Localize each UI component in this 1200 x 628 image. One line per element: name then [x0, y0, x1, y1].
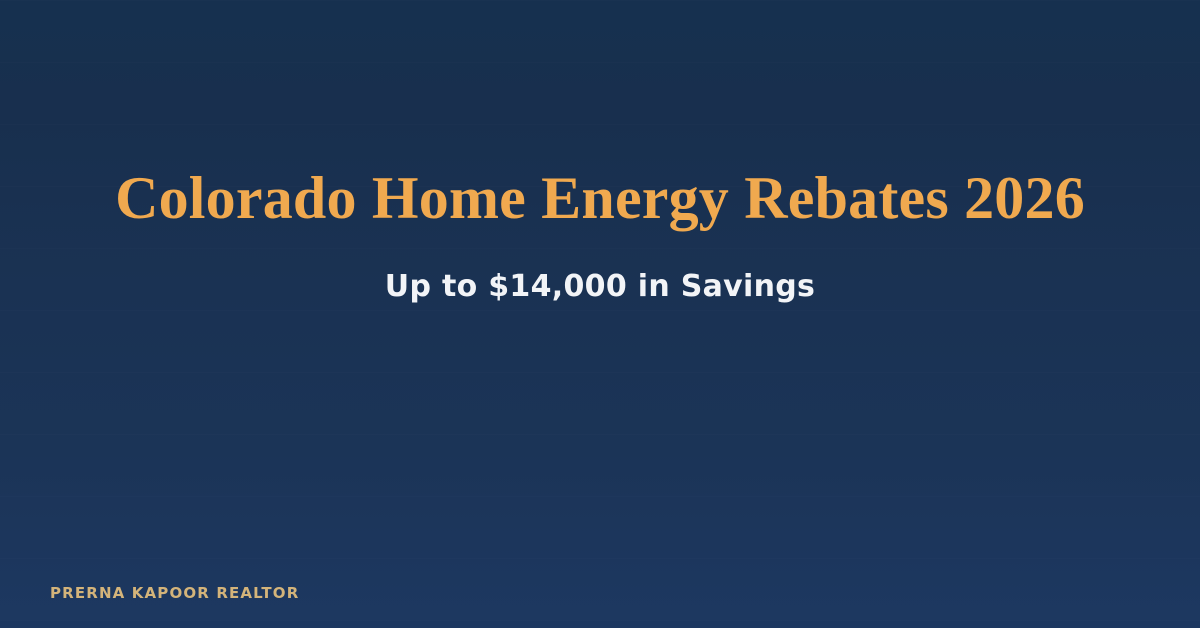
- headline-block: Colorado Home Energy Rebates 2026 Up to …: [0, 168, 1200, 302]
- subtitle: Up to $14,000 in Savings: [0, 228, 1200, 302]
- page-title: Colorado Home Energy Rebates 2026: [0, 168, 1200, 228]
- banner-canvas: Colorado Home Energy Rebates 2026 Up to …: [0, 0, 1200, 628]
- brand-name: PRERNA KAPOOR REALTOR: [50, 584, 299, 602]
- brand-footer: PRERNA KAPOOR REALTOR: [50, 585, 299, 603]
